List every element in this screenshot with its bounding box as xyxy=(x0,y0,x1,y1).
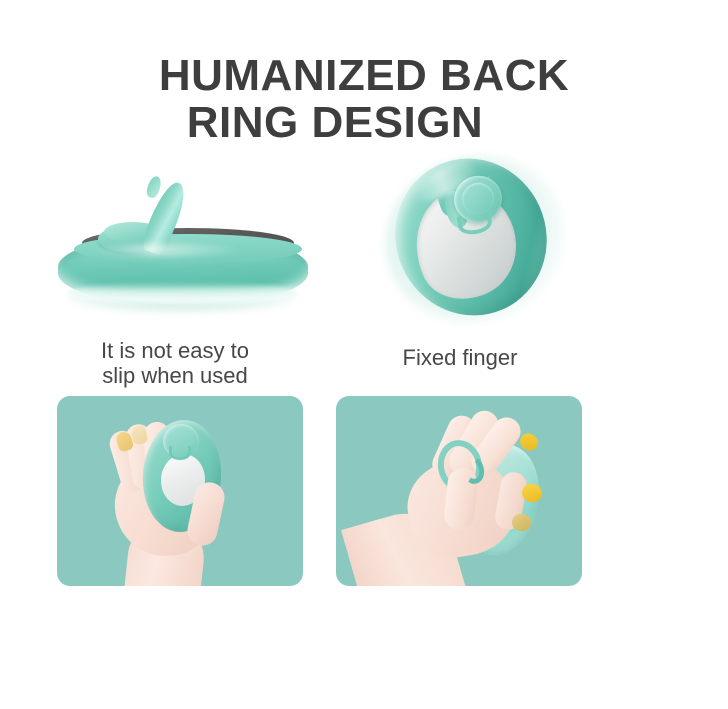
caption-fixed-finger: Fixed finger xyxy=(332,345,588,370)
page-title-line-2: RING DESIGN xyxy=(0,99,728,146)
product-side-view-illustration xyxy=(52,178,314,324)
caption-not-easy-to-slip: It is not easy to slip when used xyxy=(47,338,303,388)
caption-line-1: It is not easy to xyxy=(101,338,249,363)
page-title-line-1: HUMANIZED BACK xyxy=(0,52,728,99)
back-ring xyxy=(169,446,191,460)
page-title: HUMANIZED BACK RING DESIGN xyxy=(0,52,728,146)
hand-holding-device-photo xyxy=(57,396,303,586)
device-highlight xyxy=(92,244,242,256)
product-tilted-view-illustration xyxy=(382,150,572,326)
device-bottom-rim xyxy=(68,282,298,304)
caption-line-2: slip when used xyxy=(102,363,248,388)
finger-through-ring-photo xyxy=(336,396,582,586)
back-ring-tip xyxy=(145,175,163,200)
